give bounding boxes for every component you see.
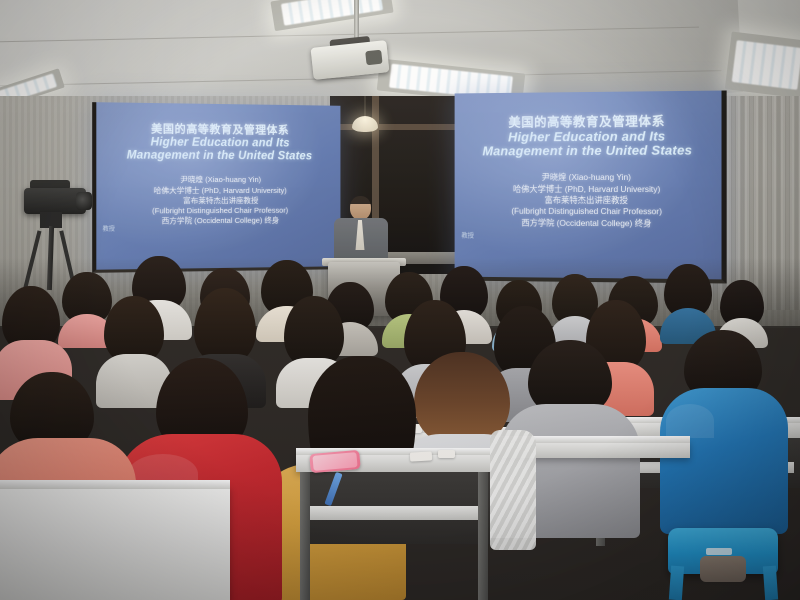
slide-body-line: 西方学院 (Occidental College) 终身 [511,217,662,229]
ceiling-light-icon [725,31,800,98]
slide-body: 尹晓煌 (Xiao-huang Yin) 哈佛大学博士 (PhD, Harvar… [152,175,288,227]
desk [0,486,230,600]
projector-lens-icon [365,50,382,66]
desk-leg [300,472,310,600]
stool-leg [669,566,684,600]
knit-bag [490,430,536,550]
slide-body-line: 尹晓煌 (Xiao-huang Yin) [511,172,662,183]
slide-english-title-line2: Management in the United States [482,143,692,159]
jacket-highlight [666,404,714,438]
stool-label [706,548,732,555]
slide-english-title-line2: Management in the United States [127,149,313,162]
slide-english-title: Higher Education and Its Management in t… [482,129,692,159]
slide-body-line: (Fulbright Distinguished Chair Professor… [511,206,662,218]
slide-corner-label: 教授 [461,229,474,239]
slide-chinese-title: 美国的高等教育及管理体系 [508,110,665,130]
speaker-head [350,196,371,220]
slide-body-line: 西方学院 (Occidental College) 终身 [152,216,288,227]
slide-english-title: Higher Education and Its Management in t… [127,136,313,163]
slide-body-line: 哈佛大学博士 (PhD, Harvard University) [152,185,288,195]
lecture-hall-photo: 美国的高等教育及管理体系 Higher Education and Its Ma… [0,0,800,600]
slide-body-line: 尹晓煌 (Xiao-huang Yin) [152,175,288,185]
stool-handle-cutout [700,556,746,582]
slide-english-title-line1: Higher Education and Its [151,137,290,150]
slide-corner-label: 教授 [103,224,115,233]
projection-screen-right: 美国的高等教育及管理体系 Higher Education and Its Ma… [455,90,727,283]
camera-lens-icon [76,192,92,210]
pendant-light-icon [352,116,378,132]
desk-paper [410,451,432,461]
slide-chinese-title: 美国的高等教育及管理体系 [151,120,289,137]
pendant-light-cord [364,96,366,118]
stool-leg [763,566,778,600]
projection-screen-left: 美国的高等教育及管理体系 Higher Education and Its Ma… [92,102,340,273]
slide-body-line: 富布莱特杰出讲座教授 [152,196,288,207]
slide-body: 尹晓煌 (Xiao-huang Yin) 哈佛大学博士 (PhD, Harvar… [511,172,662,229]
slide-body-line: 富布莱特杰出讲座教授 [511,195,662,207]
desk-edge [0,480,230,489]
desk-leg [478,472,488,600]
desk-paper [438,450,455,458]
list-item [660,330,788,530]
slide-body-line: 哈佛大学博士 (PhD, Harvard University) [511,184,662,195]
desk-shelf [310,506,480,520]
student-hair [194,288,256,364]
smartphone-screen [312,452,357,471]
